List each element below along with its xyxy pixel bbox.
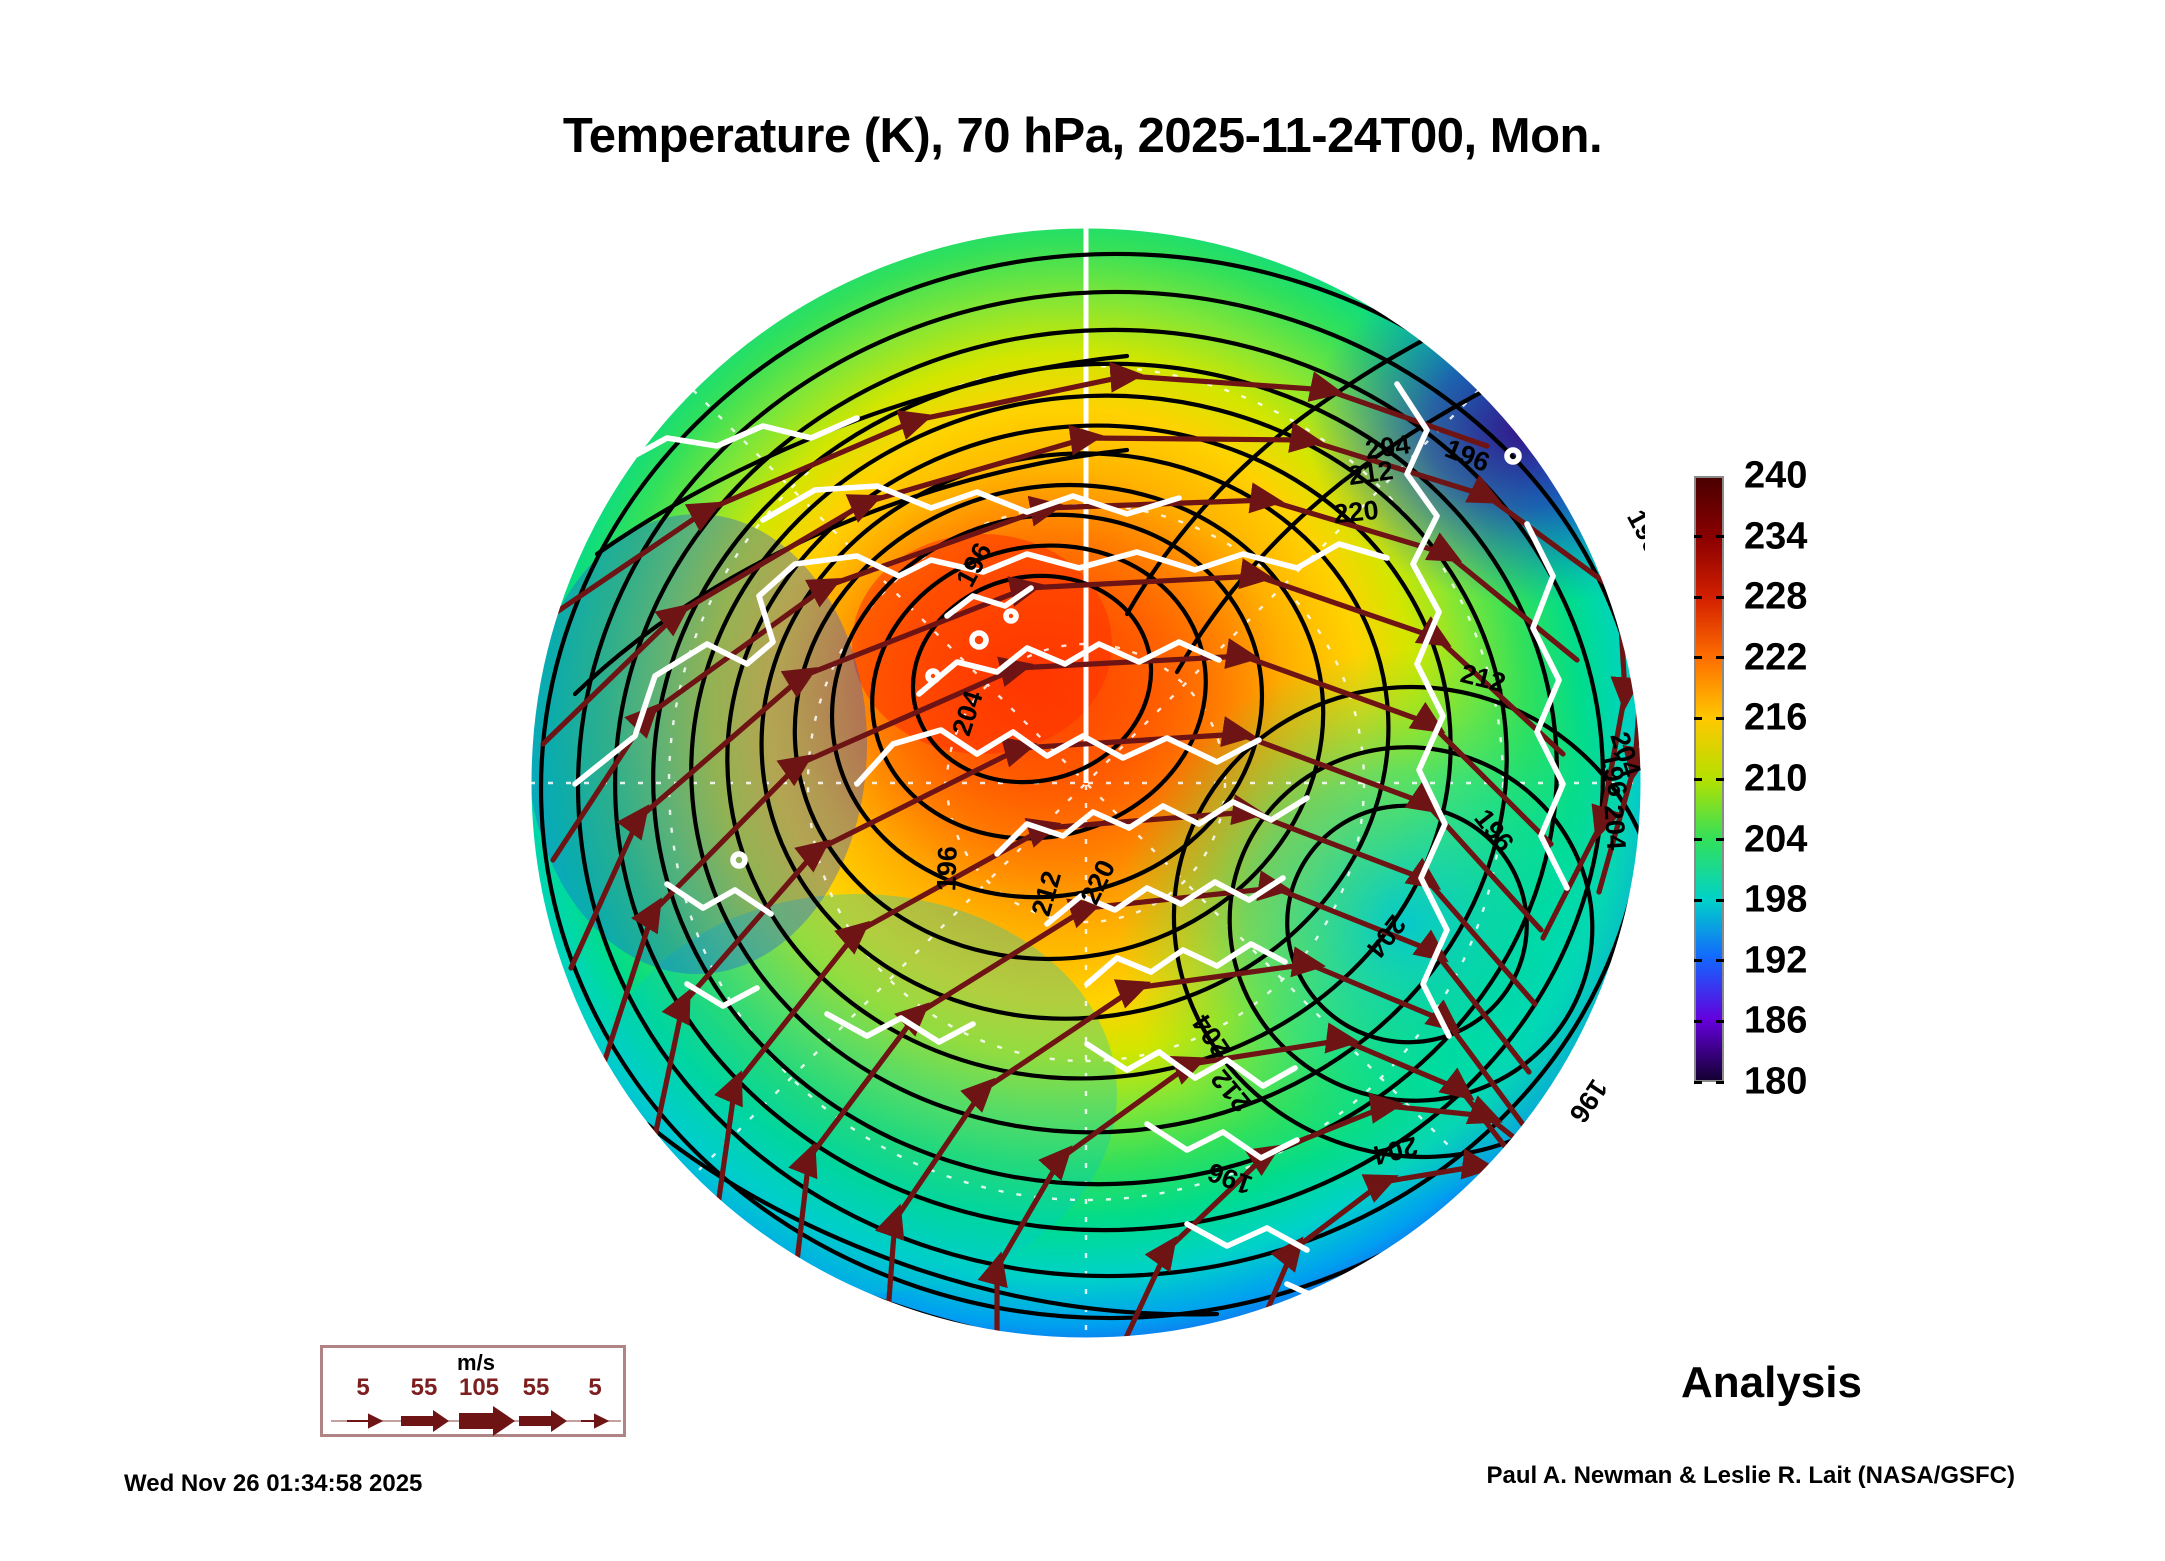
- contour-label: 204: [1598, 804, 1631, 851]
- wind-value-labels: 555105555: [323, 1374, 629, 1402]
- contour-label: 196: [931, 846, 963, 892]
- colorbar-tick-mark: [1694, 959, 1724, 962]
- wind-value-label: 55: [411, 1374, 438, 1402]
- colorbar-tick-mark: [1694, 1081, 1724, 1084]
- colorbar-tick-mark: [1694, 1020, 1724, 1023]
- colorbar-tick-label: 198: [1744, 879, 1807, 922]
- colorbar: 240234228222216210204198192186180: [1694, 476, 1994, 1086]
- colorbar-tick-label: 210: [1744, 758, 1807, 801]
- colorbar-tick-label: 192: [1744, 939, 1807, 982]
- colorbar-tick-mark: [1694, 717, 1724, 720]
- wind-value-label: 5: [356, 1374, 369, 1402]
- colorbar-tick-label: 228: [1744, 576, 1807, 619]
- colorbar-ticks: [1694, 476, 1724, 1082]
- generation-timestamp: Wed Nov 26 01:34:58 2025: [124, 1470, 422, 1498]
- colorbar-tick-label: 240: [1744, 455, 1807, 498]
- colorbar-tick-mark: [1694, 899, 1724, 902]
- colorbar-tick-mark: [1694, 535, 1724, 538]
- contour-label: 220: [1332, 495, 1380, 530]
- colorbar-tick-mark: [1694, 838, 1724, 841]
- colorbar-tick-label: 186: [1744, 1000, 1807, 1043]
- contour-label: 212: [1346, 455, 1395, 491]
- colorbar-tick-mark: [1694, 656, 1724, 659]
- analysis-label: Analysis: [1681, 1358, 1862, 1408]
- wind-arrow-glyphs: [323, 1406, 629, 1436]
- wind-value-label: 55: [523, 1374, 550, 1402]
- page-title: Temperature (K), 70 hPa, 2025-11-24T00, …: [0, 108, 2165, 164]
- colorbar-tick-label: 222: [1744, 636, 1807, 679]
- polar-map: 2042121962201961962042122041962041961962…: [527, 224, 1645, 1342]
- contour-label: 196: [1621, 505, 1645, 559]
- wind-unit-label: m/s: [323, 1350, 629, 1376]
- colorbar-tick-label: 216: [1744, 697, 1807, 740]
- map-field: [527, 224, 1645, 1342]
- contour-label: 196: [1563, 1074, 1613, 1128]
- wind-speed-legend: m/s 555105555: [320, 1345, 626, 1437]
- wind-value-label: 5: [588, 1374, 601, 1402]
- colorbar-labels: 240234228222216210204198192186180: [1744, 476, 1904, 1082]
- wind-value-label: 105: [459, 1374, 499, 1402]
- colorbar-tick-label: 180: [1744, 1061, 1807, 1104]
- colorbar-tick-mark: [1694, 596, 1724, 599]
- author-credit: Paul A. Newman & Leslie R. Lait (NASA/GS…: [1486, 1462, 2015, 1490]
- colorbar-tick-mark: [1694, 778, 1724, 781]
- colorbar-tick-label: 204: [1744, 818, 1807, 861]
- polar-map-svg: 2042121962201961962042122041962041961962…: [527, 224, 1645, 1342]
- colorbar-tick-label: 234: [1744, 515, 1807, 558]
